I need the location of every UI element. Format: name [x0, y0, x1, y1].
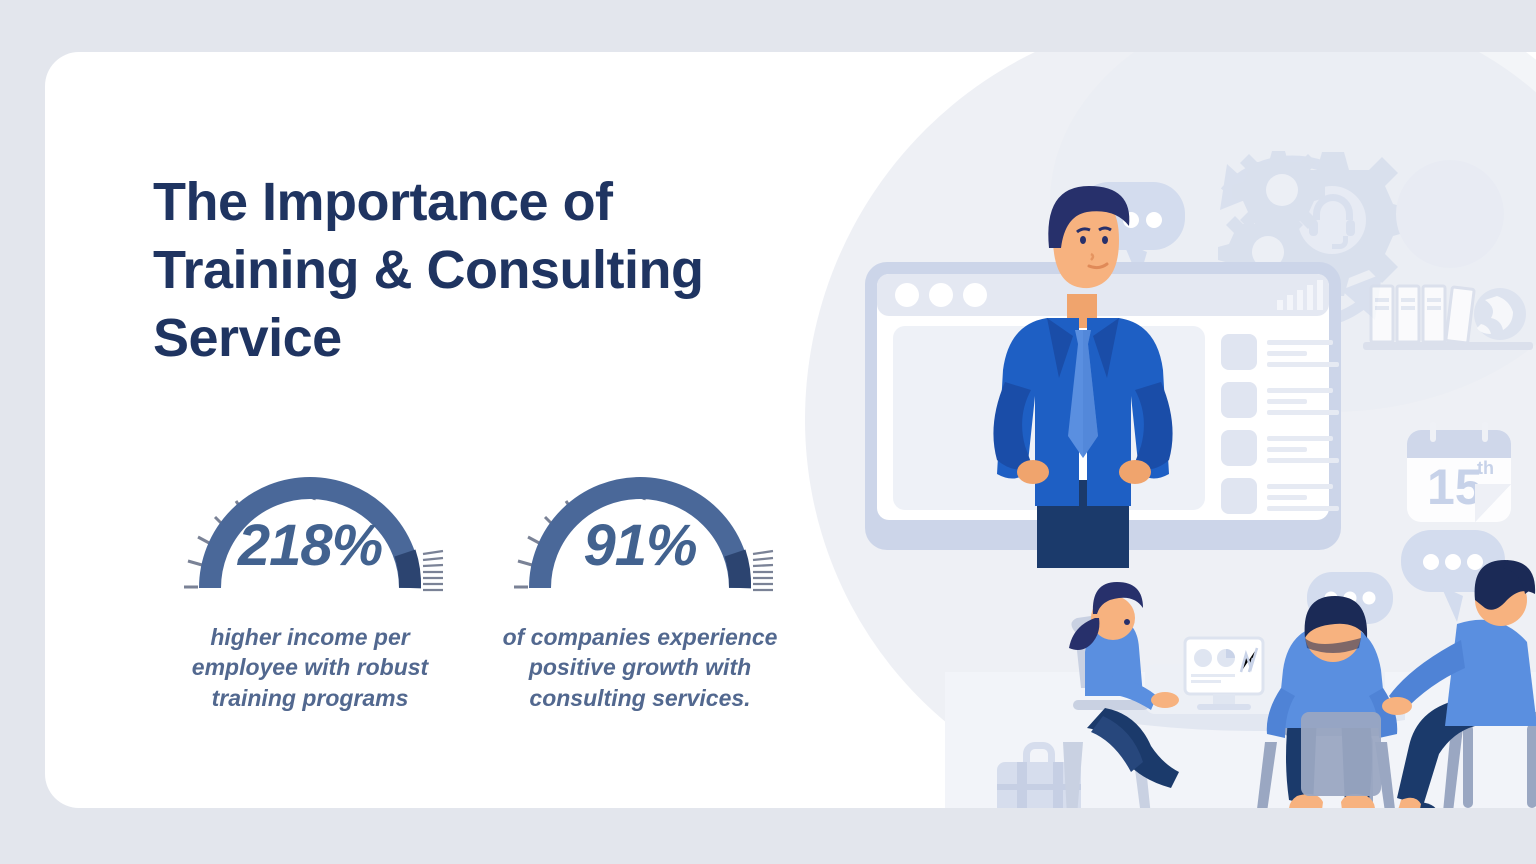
- stat-caption: higher income per employee with robust t…: [160, 622, 460, 713]
- title-line-3: Service: [153, 304, 853, 372]
- window-dots: [895, 283, 987, 307]
- gauge-218: 218%: [165, 450, 455, 600]
- gauge-91: 91%: [495, 450, 785, 600]
- chair-backrest: [1301, 712, 1381, 796]
- content-card: 15 th: [45, 52, 1536, 808]
- man-right-shirt: [1445, 620, 1536, 726]
- globe-icon: [1474, 288, 1526, 340]
- decor-circle: [1396, 160, 1504, 268]
- title-line-1: The Importance of: [153, 168, 853, 236]
- calendar-suffix-text: th: [1477, 458, 1494, 478]
- stat-caption: of companies experience positive growth …: [480, 622, 800, 713]
- man-right-hand: [1382, 697, 1412, 715]
- chair-leg: [1527, 724, 1536, 808]
- stat-value: 218%: [165, 512, 455, 579]
- binder-shelf-group: [1363, 286, 1533, 350]
- businessman-hand-left: [1017, 460, 1049, 484]
- stat-block-1: 218% higher income per employee with rob…: [145, 450, 475, 713]
- businessman-hand-right: [1119, 460, 1151, 484]
- woman-eye: [1124, 619, 1130, 625]
- stat-value: 91%: [495, 512, 785, 579]
- stat-block-2: 91% of companies experience positive gro…: [475, 450, 805, 713]
- calendar-day-text: 15: [1427, 459, 1483, 515]
- infographic-canvas: 15 th: [0, 0, 1536, 864]
- chair-leg: [1463, 724, 1473, 808]
- calendar-icon: 15 th: [1407, 422, 1511, 522]
- page-title: The Importance of Training & Consulting …: [153, 168, 853, 372]
- woman-hand: [1151, 692, 1179, 708]
- binder-icon: [1371, 286, 1474, 343]
- stats-row: 218% higher income per employee with rob…: [145, 450, 825, 713]
- title-line-2: Training & Consulting: [153, 236, 853, 304]
